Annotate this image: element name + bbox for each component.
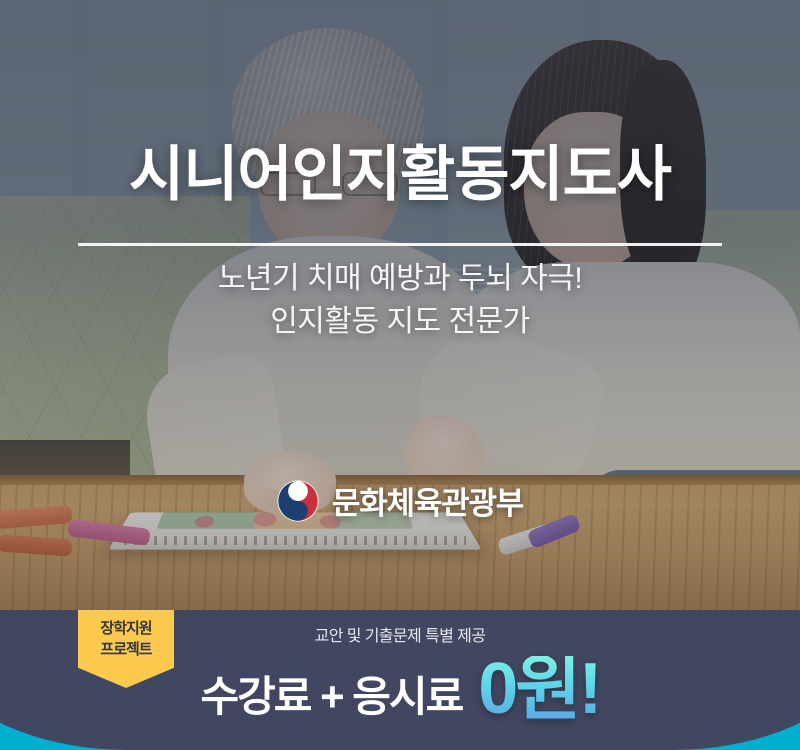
hero-subtitle-line-2: 인지활동 지도 전문가 bbox=[0, 301, 800, 344]
title-divider bbox=[78, 243, 722, 246]
hero-subtitle-line-1: 노년기 치매 예방과 두뇌 자극! bbox=[0, 258, 800, 301]
promo-note: 교안 및 기출문제 특별 제공 bbox=[0, 622, 800, 646]
ministry-name: 문화체육관광부 bbox=[332, 478, 523, 523]
ministry-logo: 문화체육관광부 bbox=[0, 478, 800, 523]
price-free-value: 0원! bbox=[478, 656, 599, 722]
hero-subtitle: 노년기 치매 예방과 두뇌 자극! 인지활동 지도 전문가 bbox=[0, 258, 800, 343]
page-title: 시니어인지활동지도사 bbox=[0, 143, 800, 208]
promo-banner: 시니어인지활동지도사 노년기 치매 예방과 두뇌 자극! 인지활동 지도 전문가… bbox=[0, 0, 800, 750]
price-label: 수강료 + 응시료 bbox=[201, 663, 463, 724]
price-row: 수강료 + 응시료 0원! bbox=[0, 660, 800, 726]
taegeuk-icon bbox=[277, 480, 319, 522]
